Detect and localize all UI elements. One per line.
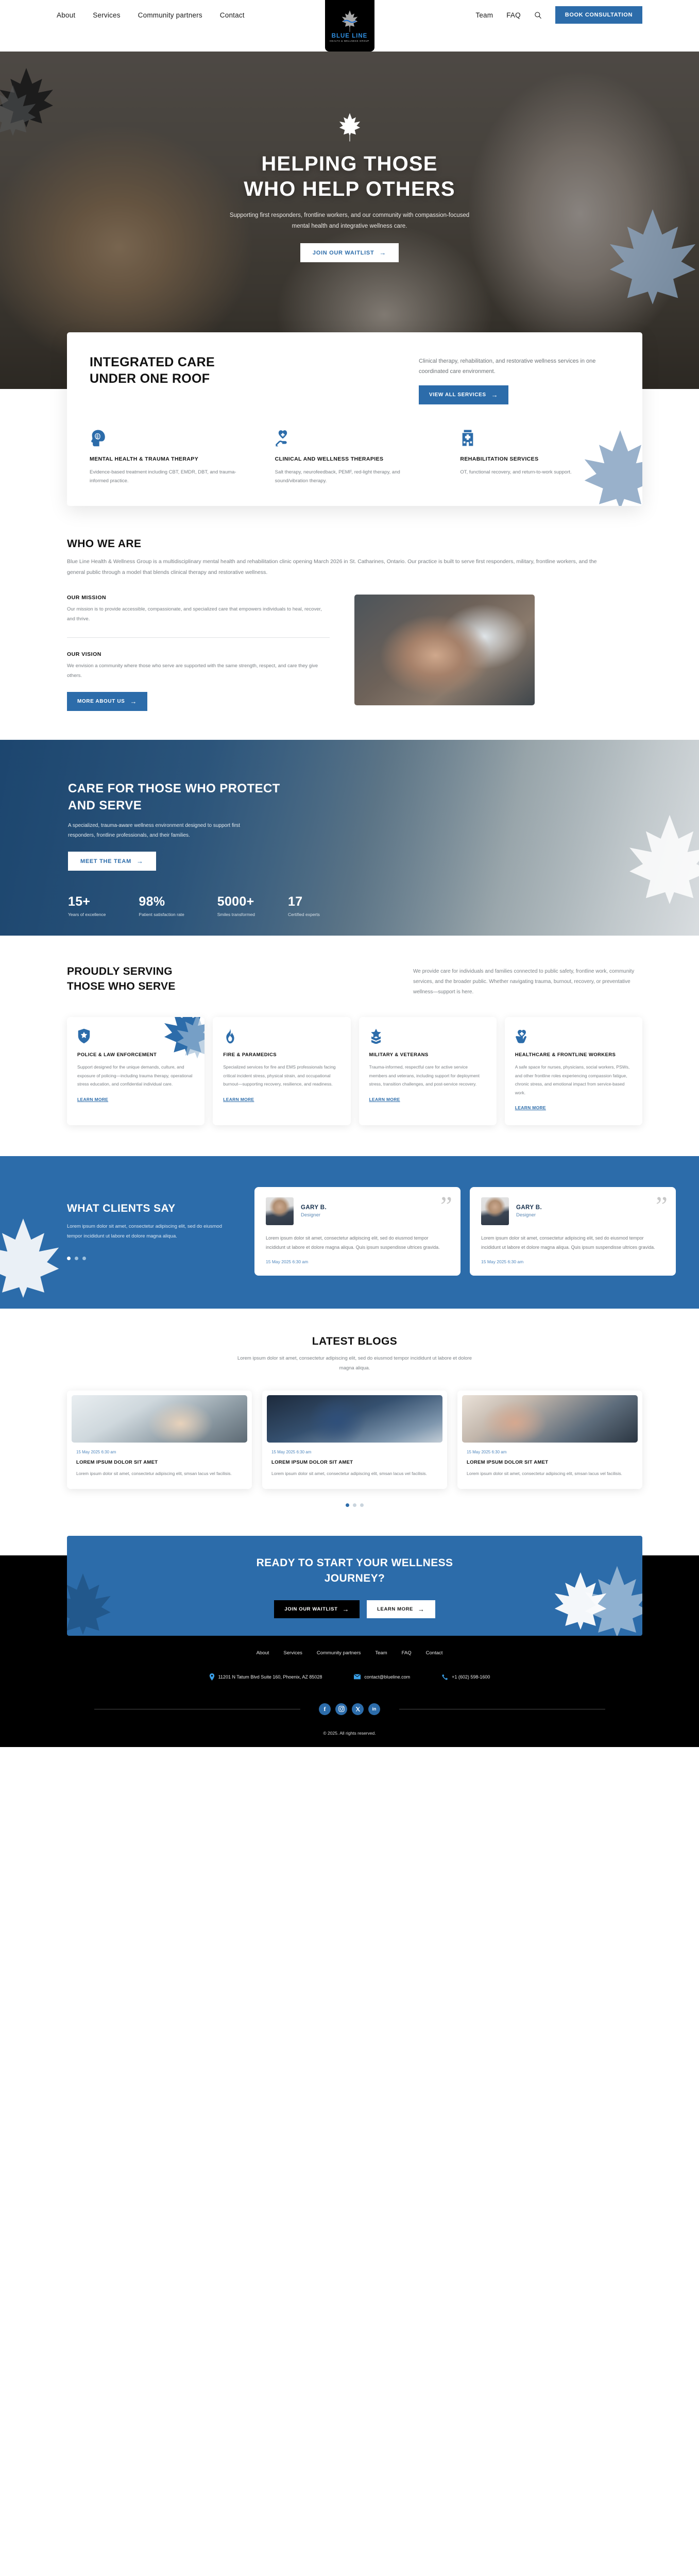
stat-number: 98% (139, 894, 184, 909)
service-card-text: Trauma-informed, respectful care for act… (369, 1063, 486, 1089)
maple-leaf-logo-icon (341, 10, 359, 32)
blog-title: LOREM IPSUM DOLOR SIT AMET (457, 1454, 642, 1465)
vision-text: We envision a community where those who … (67, 662, 330, 681)
mission-text: Our mission is to provide accessible, co… (67, 605, 330, 624)
serving-heading-line2: THOSE WHO SERVE (67, 980, 176, 992)
blog-thumbnail (72, 1395, 247, 1443)
quote-mark-icon: ” (656, 1193, 668, 1220)
blog-thumbnail (267, 1395, 442, 1443)
more-about-us-button[interactable]: MORE ABOUT US → (67, 692, 147, 711)
proudly-serving-paragraph: We provide care for individuals and fami… (413, 964, 642, 997)
footer-email-item[interactable]: contact@blueline.com (354, 1674, 410, 1680)
cta-heading-line2: JOURNEY? (325, 1572, 385, 1584)
carousel-dot-1[interactable] (346, 1503, 349, 1507)
carousel-dot-2[interactable] (353, 1503, 356, 1507)
stat-item: 15+ Years of excellence (68, 894, 106, 917)
divider (67, 637, 330, 638)
cta-learn-more-label: LEARN MORE (377, 1606, 413, 1612)
stat-label: Certified experts (288, 912, 320, 917)
map-pin-icon (209, 1673, 215, 1681)
nav-item-faq[interactable]: FAQ (506, 11, 521, 19)
integrated-care-header: INTEGRATED CARE UNDER ONE ROOF Clinical … (90, 354, 620, 404)
service-card-title: POLICE & LAW ENFORCEMENT (77, 1052, 194, 1058)
footer-nav-about[interactable]: About (257, 1650, 269, 1656)
blogs-carousel-dots (67, 1503, 642, 1507)
hero-title-line2: WHO HELP OTHERS (244, 178, 455, 200)
testimonial-header: GARY B. Designer (481, 1197, 664, 1225)
service-card-text: Specialized services for fire and EMS pr… (223, 1063, 340, 1089)
hero-waitlist-button[interactable]: JOIN OUR WAITLIST → (300, 243, 399, 262)
blog-excerpt: Lorem ipsum dolor sit amet, consectetur … (457, 1465, 642, 1478)
stat-label: Years of excellence (68, 912, 106, 917)
hero-waitlist-label: JOIN OUR WAITLIST (313, 250, 374, 256)
cta-heading: READY TO START YOUR WELLNESS JOURNEY? (67, 1555, 642, 1587)
testimonial-date: 15 May 2025 6:30 am (266, 1259, 449, 1264)
footer-nav-services[interactable]: Services (283, 1650, 302, 1656)
blog-date: 15 May 2025 6:30 am (67, 1443, 252, 1454)
who-we-are-paragraph: Blue Line Health & Wellness Group is a m… (67, 556, 613, 578)
arrow-right-icon: → (130, 698, 137, 705)
testimonials-intro: WHAT CLIENTS SAY Lorem ipsum dolor sit a… (67, 1202, 237, 1260)
testimonial-quote: Lorem ipsum dolor sit amet, consectetur … (481, 1233, 664, 1252)
integrated-care-wrapper: INTEGRATED CARE UNDER ONE ROOF Clinical … (0, 332, 699, 506)
cta-banner: READY TO START YOUR WELLNESS JOURNEY? JO… (67, 1536, 642, 1636)
blog-card[interactable]: 15 May 2025 6:30 am LOREM IPSUM DOLOR SI… (457, 1391, 642, 1489)
integrated-care-columns: MENTAL HEALTH & TRAUMA THERAPY Evidence-… (90, 429, 620, 485)
testimonials-content: WHAT CLIENTS SAY Lorem ipsum dolor sit a… (67, 1187, 699, 1276)
who-we-are-section: WHO WE ARE Blue Line Health & Wellness G… (0, 506, 699, 740)
care-column-title: REHABILITATION SERVICES (460, 455, 620, 463)
avatar (266, 1197, 294, 1225)
cta-learn-more-button[interactable]: LEARN MORE → (367, 1600, 435, 1618)
footer-phone: +1 (602) 598-1600 (452, 1674, 490, 1680)
carousel-dot-2[interactable] (75, 1257, 78, 1260)
latest-blogs-section: LATEST BLOGS Lorem ipsum dolor sit amet,… (0, 1309, 699, 1535)
testimonial-card: ” GARY B. Designer Lorem ipsum dolor sit… (470, 1187, 676, 1276)
service-card-healthcare-frontline[interactable]: HEALTHCARE & FRONTLINE WORKERS A safe sp… (505, 1017, 642, 1125)
logo-brand-name: BLUE LINE (332, 33, 368, 39)
stat-label: Smiles transformed (217, 912, 255, 917)
protect-content: CARE FOR THOSE WHO PROTECT AND SERVE A s… (0, 740, 699, 917)
service-card-police[interactable]: POLICE & LAW ENFORCEMENT Support designe… (67, 1017, 204, 1125)
who-we-are-body: OUR MISSION Our mission is to provide ac… (67, 595, 642, 711)
footer-nav-contact[interactable]: Contact (426, 1650, 443, 1656)
service-card-text: A safe space for nurses, physicians, soc… (515, 1063, 632, 1097)
footer-address-item[interactable]: 11201 N Tatum Blvd Suite 160, Phoenix, A… (209, 1673, 322, 1681)
testimonial-name: GARY B. (301, 1205, 327, 1211)
footer-nav-community-partners[interactable]: Community partners (317, 1650, 361, 1656)
blog-title: LOREM IPSUM DOLOR SIT AMET (67, 1454, 252, 1465)
nav-item-team[interactable]: Team (475, 11, 493, 19)
blog-cards: 15 May 2025 6:30 am LOREM IPSUM DOLOR SI… (67, 1391, 642, 1489)
nav-item-services[interactable]: Services (93, 11, 120, 19)
view-all-services-label: VIEW ALL SERVICES (429, 392, 486, 398)
service-card-title: FIRE & PARAMEDICS (223, 1052, 340, 1058)
footer-nav: About Services Community partners Team F… (57, 1650, 642, 1656)
testimonial-identity: GARY B. Designer (516, 1205, 542, 1218)
testimonial-role: Designer (516, 1212, 542, 1218)
stat-item: 98% Patient satisfaction rate (139, 894, 184, 917)
cta-buttons: JOIN OUR WAITLIST → LEARN MORE → (67, 1600, 642, 1618)
footer-social-links: f in (57, 1703, 642, 1715)
protect-heading: CARE FOR THOSE WHO PROTECT AND SERVE (68, 780, 289, 814)
testimonial-identity: GARY B. Designer (301, 1205, 327, 1218)
stat-number: 17 (288, 894, 320, 909)
blog-thumbnail (462, 1395, 638, 1443)
hero-title: HELPING THOSE WHO HELP OTHERS (0, 151, 699, 202)
hero-title-line1: HELPING THOSE (261, 152, 437, 175)
who-we-are-heading: WHO WE ARE (67, 538, 642, 550)
carousel-dot-3[interactable] (82, 1257, 86, 1260)
protect-paragraph: A specialized, trauma-aware wellness env… (68, 821, 264, 840)
footer-email: contact@blueline.com (364, 1674, 410, 1680)
service-card-title: HEALTHCARE & FRONTLINE WORKERS (515, 1052, 632, 1058)
search-icon[interactable] (534, 11, 542, 19)
mission-vision-block: OUR MISSION Our mission is to provide ac… (67, 595, 330, 711)
hospital-building-icon (460, 429, 475, 447)
brain-head-icon (90, 429, 105, 447)
care-column-text: Evidence-based treatment including CBT, … (90, 468, 249, 485)
testimonials-section: WHAT CLIENTS SAY Lorem ipsum dolor sit a… (0, 1156, 699, 1309)
cta-heading-line1: READY TO START YOUR WELLNESS (257, 1557, 453, 1569)
hero-content: HELPING THOSE WHO HELP OTHERS Supporting… (0, 52, 699, 262)
footer-nav-faq[interactable]: FAQ (402, 1650, 412, 1656)
testimonials-carousel-dots (67, 1257, 237, 1260)
x-twitter-icon[interactable] (352, 1703, 364, 1715)
protect-heading-line2: AND SERVE (68, 799, 142, 812)
decorative-maple-leaf-white-icon (0, 1216, 67, 1309)
learn-more-link[interactable]: LEARN MORE (369, 1097, 400, 1102)
integrated-care-description: Clinical therapy, rehabilitation, and re… (419, 356, 620, 377)
blog-title: LOREM IPSUM DOLOR SIT AMET (262, 1454, 447, 1465)
blog-date: 15 May 2025 6:30 am (262, 1443, 447, 1454)
learn-more-link[interactable]: LEARN MORE (77, 1097, 108, 1102)
arrow-right-icon: → (491, 392, 499, 398)
mission-block: OUR MISSION Our mission is to provide ac… (67, 595, 330, 624)
blogs-paragraph: Lorem ipsum dolor sit amet, consectetur … (234, 1354, 476, 1372)
stats-row: 15+ Years of excellence 98% Patient sati… (68, 894, 642, 917)
vision-title: OUR VISION (67, 651, 330, 657)
cta-join-waitlist-button[interactable]: JOIN OUR WAITLIST → (274, 1600, 360, 1618)
primary-nav-right: Team FAQ BOOK CONSULTATION (475, 0, 699, 30)
blogs-heading: LATEST BLOGS (67, 1335, 642, 1348)
meet-the-team-button[interactable]: MEET THE TEAM → (68, 852, 156, 871)
integrated-care-card: INTEGRATED CARE UNDER ONE ROOF Clinical … (67, 332, 642, 506)
vision-block: OUR VISION We envision a community where… (67, 651, 330, 681)
service-card-title: MILITARY & VETERANS (369, 1052, 486, 1058)
integrated-care-heading-line2: UNDER ONE ROOF (90, 371, 210, 386)
nav-item-contact[interactable]: Contact (220, 11, 245, 19)
arrow-right-icon: → (379, 249, 386, 256)
stat-number: 5000+ (217, 894, 255, 909)
blog-date: 15 May 2025 6:30 am (457, 1443, 642, 1454)
testimonial-card: ” GARY B. Designer Lorem ipsum dolor sit… (254, 1187, 461, 1276)
blog-card[interactable]: 15 May 2025 6:30 am LOREM IPSUM DOLOR SI… (67, 1391, 252, 1489)
testimonials-heading: WHAT CLIENTS SAY (67, 1202, 237, 1215)
care-column-clinical-wellness: CLINICAL AND WELLNESS THERAPIES Salt the… (275, 429, 435, 485)
protect-heading-line1: CARE FOR THOSE WHO PROTECT (68, 782, 280, 795)
arrow-right-icon: → (343, 1606, 350, 1613)
stat-number: 15+ (68, 894, 106, 909)
decorative-maple-leaf-dark-blue-icon (159, 1017, 204, 1070)
care-column-rehabilitation: REHABILITATION SERVICES OT, functional r… (460, 429, 620, 485)
proudly-serving-header: PROUDLY SERVING THOSE WHO SERVE We provi… (67, 964, 642, 997)
testimonial-quote: Lorem ipsum dolor sit amet, consectetur … (266, 1233, 449, 1252)
integrated-care-heading-line1: INTEGRATED CARE (90, 355, 215, 369)
nav-item-about[interactable]: About (57, 11, 75, 19)
phone-icon (442, 1674, 448, 1680)
care-column-mental-health: MENTAL HEALTH & TRAUMA THERAPY Evidence-… (90, 429, 249, 485)
quote-mark-icon: ” (440, 1193, 452, 1220)
who-we-are-image (354, 595, 535, 705)
service-card-military-veterans[interactable]: MILITARY & VETERANS Trauma-informed, res… (359, 1017, 497, 1125)
cta-zone: READY TO START YOUR WELLNESS JOURNEY? JO… (0, 1536, 699, 1587)
proudly-serving-heading: PROUDLY SERVING THOSE WHO SERVE (67, 964, 176, 994)
learn-more-link[interactable]: LEARN MORE (515, 1105, 546, 1110)
meet-the-team-label: MEET THE TEAM (80, 858, 131, 865)
footer-contact-info: 11201 N Tatum Blvd Suite 160, Phoenix, A… (57, 1673, 642, 1681)
hero-subtitle: Supporting first responders, frontline w… (221, 210, 479, 232)
testimonial-cards: ” GARY B. Designer Lorem ipsum dolor sit… (254, 1187, 676, 1276)
testimonials-paragraph: Lorem ipsum dolor sit amet, consectetur … (67, 1222, 237, 1241)
stat-label: Patient satisfaction rate (139, 912, 184, 917)
instagram-icon[interactable] (335, 1703, 347, 1715)
service-card-text: Support designed for the unique demands,… (77, 1063, 194, 1089)
carousel-dot-1[interactable] (67, 1257, 71, 1260)
primary-nav-left: About Services Community partners Contac… (0, 0, 245, 30)
footer-nav-team[interactable]: Team (375, 1650, 387, 1656)
service-cards: POLICE & LAW ENFORCEMENT Support designe… (67, 1017, 642, 1125)
care-column-title: MENTAL HEALTH & TRAUMA THERAPY (90, 455, 249, 463)
footer-phone-item[interactable]: +1 (602) 598-1600 (442, 1674, 490, 1680)
serving-heading-line1: PROUDLY SERVING (67, 965, 173, 977)
site-header: About Services Community partners Contac… (0, 0, 699, 52)
testimonial-header: GARY B. Designer (266, 1197, 449, 1225)
blog-excerpt: Lorem ipsum dolor sit amet, consectetur … (262, 1465, 447, 1478)
care-column-title: CLINICAL AND WELLNESS THERAPIES (275, 455, 435, 463)
mission-title: OUR MISSION (67, 595, 330, 601)
avatar (481, 1197, 509, 1225)
carousel-dot-3[interactable] (360, 1503, 364, 1507)
learn-more-link[interactable]: LEARN MORE (223, 1097, 254, 1102)
more-about-us-label: MORE ABOUT US (77, 699, 125, 704)
envelope-icon (354, 1674, 361, 1680)
blog-card[interactable]: 15 May 2025 6:30 am LOREM IPSUM DOLOR SI… (262, 1391, 447, 1489)
integrated-care-description-block: Clinical therapy, rehabilitation, and re… (419, 354, 620, 404)
flame-icon (223, 1028, 236, 1044)
protect-and-serve-section: CARE FOR THOSE WHO PROTECT AND SERVE A s… (0, 740, 699, 936)
police-badge-icon (77, 1028, 91, 1044)
stat-item: 5000+ Smiles transformed (217, 894, 255, 917)
book-consultation-button[interactable]: BOOK CONSULTATION (555, 6, 642, 24)
logo-brand-tagline: HEALTH & WELLNESS GROUP (330, 40, 369, 42)
testimonial-name: GARY B. (516, 1205, 542, 1211)
site-logo[interactable]: BLUE LINE HEALTH & WELLNESS GROUP (325, 0, 374, 52)
landing-page: About Services Community partners Contac… (0, 0, 699, 1747)
stat-item: 17 Certified experts (288, 894, 320, 917)
footer-address: 11201 N Tatum Blvd Suite 160, Phoenix, A… (218, 1674, 322, 1680)
care-column-text: OT, functional recovery, and return-to-w… (460, 468, 620, 477)
cta-join-waitlist-label: JOIN OUR WAITLIST (284, 1606, 337, 1612)
arrow-right-icon: → (137, 858, 144, 865)
testimonial-date: 15 May 2025 6:30 am (481, 1259, 664, 1264)
heart-hand-icon (275, 429, 291, 447)
service-card-fire-paramedics[interactable]: FIRE & PARAMEDICS Specialized services f… (213, 1017, 350, 1125)
military-rank-icon (369, 1028, 383, 1044)
care-column-text: Salt therapy, neurofeedback, PEMF, red-l… (275, 468, 435, 485)
arrow-right-icon: → (418, 1606, 425, 1613)
footer-copyright: © 2025. All rights reserved. (57, 1731, 642, 1736)
blog-excerpt: Lorem ipsum dolor sit amet, consectetur … (67, 1465, 252, 1478)
linkedin-icon[interactable]: in (368, 1703, 380, 1715)
testimonial-role: Designer (301, 1212, 327, 1218)
view-all-services-button[interactable]: VIEW ALL SERVICES → (419, 385, 508, 404)
nav-item-community-partners[interactable]: Community partners (138, 11, 202, 19)
facebook-icon[interactable]: f (319, 1703, 331, 1715)
proudly-serving-section: PROUDLY SERVING THOSE WHO SERVE We provi… (0, 936, 699, 1156)
heart-hands-icon (515, 1028, 528, 1044)
integrated-care-heading: INTEGRATED CARE UNDER ONE ROOF (90, 354, 215, 387)
hero-maple-leaf-icon (338, 112, 362, 142)
